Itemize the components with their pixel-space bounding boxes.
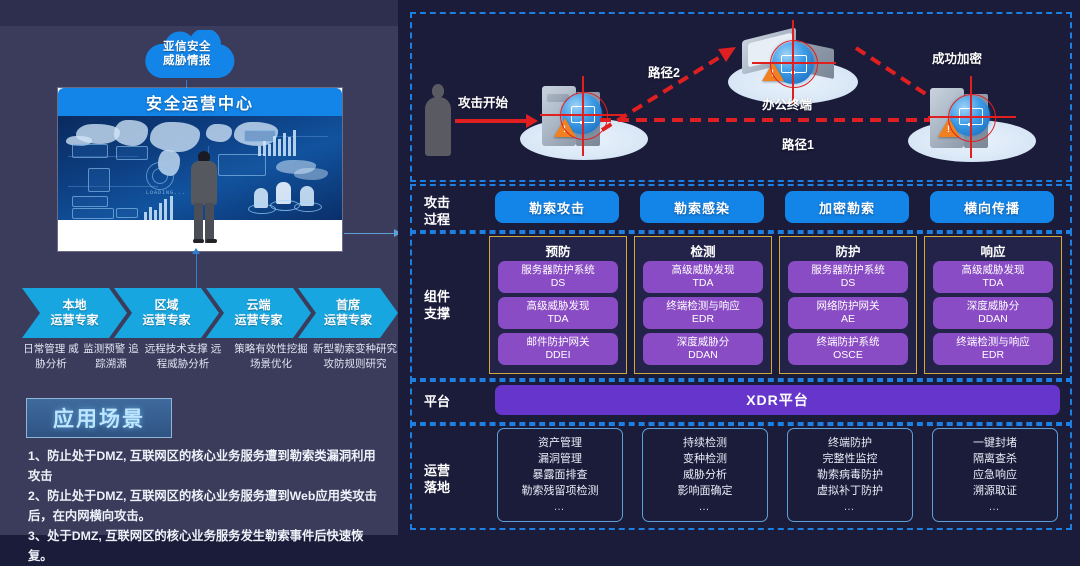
operations-column-2-line0: 终端防护 <box>828 435 872 451</box>
chevron-expert-0-line2: 运营专家 <box>50 313 98 328</box>
operations-column-3-line2: 应急响应 <box>973 467 1017 483</box>
chevron-expert-2-line1: 云端 <box>246 298 270 313</box>
chevron-expert-3-line2: 运营专家 <box>324 313 372 328</box>
diagram-root: 亚信安全 威胁情报 安全运营中心 <box>0 0 1080 535</box>
operations-row-label-line2: 落地 <box>424 480 450 495</box>
expert-note-1: 监测预警 追踪溯源 <box>82 342 140 372</box>
component-column-response: 响应 高级威胁发现 TDA 深度威胁分 DDAN 终端检测与响应 EDR <box>924 236 1062 374</box>
component-item-response-2-name: 终端检测与响应 <box>956 336 1030 349</box>
component-item-detection-1[interactable]: 终端检测与响应 EDR <box>643 297 763 329</box>
component-item-protection-0[interactable]: 服务器防护系统 DS <box>788 261 908 293</box>
component-support-row-label-line1: 组件 <box>424 289 450 304</box>
component-support-row-label: 组件 支撑 <box>424 288 450 322</box>
component-item-prevention-2[interactable]: 邮件防护网关 DDEI <box>498 333 618 365</box>
cloud-label: 亚信安全 威胁情报 <box>134 40 240 68</box>
attack-process-row-label: 攻击 过程 <box>424 194 450 228</box>
platform-row-label: 平台 <box>424 393 450 410</box>
operations-column-3-more: … <box>989 499 1002 515</box>
component-item-protection-0-name: 服务器防护系统 <box>811 264 885 277</box>
application-scenario-item-0: 1、防止处于DMZ, 互联网区的核心业务服务遭到勒索类漏洞利用攻击 <box>28 446 388 486</box>
component-item-detection-1-abbr: EDR <box>692 313 714 326</box>
chevron-expert-2[interactable]: 云端 运营专家 <box>206 288 311 338</box>
cloud-label-line2: 威胁情报 <box>163 55 211 67</box>
component-item-response-2[interactable]: 终端检测与响应 EDR <box>933 333 1053 365</box>
expert-note-0-line1: 日常管理 <box>23 343 65 355</box>
attack-step-1[interactable]: 勒索感染 <box>640 191 764 223</box>
component-item-prevention-0[interactable]: 服务器防护系统 DS <box>498 261 618 293</box>
operations-column-0-line0: 资产管理 <box>538 435 582 451</box>
application-scenario-item-1: 2、防止处于DMZ, 互联网区的核心业务服务遭到Web应用类攻击后，在内网横向攻… <box>28 486 388 526</box>
chevron-expert-3-line1: 首席 <box>336 298 360 313</box>
operations-row-label: 运营 落地 <box>424 462 450 496</box>
expert-chevron-row: 本地 运营专家 区域 运营专家 云端 运营专家 首席 运营专家 <box>22 288 394 338</box>
attack-step-0[interactable]: 勒索攻击 <box>495 191 619 223</box>
component-column-protection: 防护 服务器防护系统 DS 网络防护网关 AE 终端防护系统 OSCE <box>779 236 917 374</box>
operations-column-3-line3: 溯源取证 <box>973 483 1017 499</box>
chevron-expert-1[interactable]: 区域 运营专家 <box>114 288 219 338</box>
chevron-expert-1-line1: 区域 <box>154 298 178 313</box>
attack-step-3[interactable]: 横向传播 <box>930 191 1054 223</box>
operations-column-1-line1: 变种检测 <box>683 451 727 467</box>
component-item-detection-0[interactable]: 高级威胁发现 TDA <box>643 261 763 293</box>
operations-column-1-line0: 持续检测 <box>683 435 727 451</box>
component-item-prevention-0-name: 服务器防护系统 <box>521 264 595 277</box>
component-item-protection-2-abbr: OSCE <box>833 349 863 362</box>
operations-column-0[interactable]: 资产管理 漏洞管理 暴露面排查 勒索残留项检测 … <box>497 428 623 522</box>
component-column-response-title: 响应 <box>925 241 1061 260</box>
chevron-expert-3[interactable]: 首席 运营专家 <box>298 288 398 338</box>
component-column-prevention-title: 预防 <box>490 241 626 260</box>
operations-column-2-more: … <box>844 499 857 515</box>
component-item-protection-1-abbr: AE <box>841 313 855 326</box>
attack-step-2[interactable]: 加密勒索 <box>785 191 909 223</box>
expert-note-4-line2: 攻防规则研究 <box>324 358 387 370</box>
soc-title: 安全运营中心 <box>58 88 342 116</box>
security-operations-center-card: 安全运营中心 <box>58 88 342 251</box>
threat-intel-cloud: 亚信安全 威胁情报 <box>134 30 240 82</box>
cloud-label-line1: 亚信安全 <box>163 41 211 53</box>
component-item-detection-0-name: 高级威胁发现 <box>672 264 735 277</box>
component-item-detection-2-name: 深度威胁分 <box>677 336 730 349</box>
component-item-detection-0-abbr: TDA <box>693 277 714 290</box>
expert-note-2-line1: 远程技术支撑 <box>145 343 208 355</box>
expert-note-3-line2: 场景优化 <box>250 358 292 370</box>
node-encrypted-target: ! <box>908 74 1036 162</box>
component-column-prevention: 预防 服务器防护系统 DS 高级威胁发现 TDA 邮件防护网关 DDEI <box>489 236 627 374</box>
expert-note-0: 日常管理 威胁分析 <box>22 342 80 372</box>
component-item-protection-1-name: 网络防护网关 <box>817 300 880 313</box>
application-scenario-title: 应用场景 <box>26 398 172 438</box>
chevron-expert-1-line2: 运营专家 <box>142 313 190 328</box>
component-item-prevention-2-name: 邮件防护网关 <box>527 336 590 349</box>
chevron-expert-0-line1: 本地 <box>62 298 86 313</box>
component-item-response-1-abbr: DDAN <box>978 313 1008 326</box>
soc-inbound-line <box>196 252 197 288</box>
attack-process-row-label-line2: 过程 <box>424 212 450 227</box>
operations-column-2[interactable]: 终端防护 完整性监控 勒索病毒防护 虚拟补丁防护 … <box>787 428 913 522</box>
expert-note-2: 远程技术支撑 远程威胁分析 <box>142 342 224 372</box>
component-item-response-2-abbr: EDR <box>982 349 1004 362</box>
operator-silhouette <box>190 151 218 243</box>
component-item-prevention-1[interactable]: 高级威胁发现 TDA <box>498 297 618 329</box>
path1-label: 路径1 <box>782 134 814 153</box>
component-item-protection-2[interactable]: 终端防护系统 OSCE <box>788 333 908 365</box>
left-panel-top-strip <box>0 0 398 26</box>
success-encrypt-label: 成功加密 <box>932 48 982 67</box>
expert-note-4-line1: 新型勒索变种研究 <box>313 343 397 355</box>
component-item-detection-1-name: 终端检测与响应 <box>666 300 740 313</box>
operations-column-2-line2: 勒索病毒防护 <box>817 467 883 483</box>
component-column-detection-title: 检测 <box>635 241 771 260</box>
operations-row-label-line1: 运营 <box>424 463 450 478</box>
expert-notes-row: 日常管理 威胁分析 监测预警 追踪溯源 远程技术支撑 远程威胁分析 策略有效性挖… <box>22 342 394 382</box>
operations-column-1-more: … <box>699 499 712 515</box>
component-column-protection-title: 防护 <box>780 241 916 260</box>
left-to-right-connector-line <box>344 233 396 234</box>
component-item-protection-0-abbr: DS <box>841 277 856 290</box>
component-item-prevention-1-abbr: TDA <box>548 313 569 326</box>
xdr-platform-bar[interactable]: XDR平台 <box>495 385 1060 415</box>
left-panel: 亚信安全 威胁情报 安全运营中心 <box>0 0 398 535</box>
screen-loading-text: LOADING... <box>146 190 186 196</box>
component-support-row-label-line2: 支撑 <box>424 306 450 321</box>
component-item-response-0-abbr: TDA <box>983 277 1004 290</box>
operations-column-3-line1: 隔离查杀 <box>973 451 1017 467</box>
application-scenario-body: 1、防止处于DMZ, 互联网区的核心业务服务遭到勒索类漏洞利用攻击 2、防止处于… <box>28 446 388 566</box>
operations-column-2-line1: 完整性监控 <box>823 451 878 467</box>
component-item-detection-2-abbr: DDAN <box>688 349 718 362</box>
component-item-response-0-name: 高级威胁发现 <box>962 264 1025 277</box>
operations-column-0-more: … <box>554 499 567 515</box>
expert-note-1-line1: 监测预警 <box>83 343 125 355</box>
attack-process-row-label-line1: 攻击 <box>424 195 450 210</box>
operations-column-0-line2: 暴露面排查 <box>533 467 588 483</box>
component-item-prevention-0-abbr: DS <box>551 277 566 290</box>
component-item-detection-2[interactable]: 深度威胁分 DDAN <box>643 333 763 365</box>
operations-column-1[interactable]: 持续检测 变种检测 威胁分析 影响面确定 … <box>642 428 768 522</box>
operations-column-0-line3: 勒索残留项检测 <box>522 483 599 499</box>
component-item-prevention-2-abbr: DDEI <box>545 349 570 362</box>
operations-column-3[interactable]: 一键封堵 隔离查杀 应急响应 溯源取证 … <box>932 428 1058 522</box>
operations-column-3-line0: 一键封堵 <box>973 435 1017 451</box>
component-item-protection-1[interactable]: 网络防护网关 AE <box>788 297 908 329</box>
component-item-prevention-1-name: 高级威胁发现 <box>527 300 590 313</box>
component-item-response-1-name: 深度威胁分 <box>967 300 1020 313</box>
operations-column-1-line3: 影响面确定 <box>678 483 733 499</box>
operations-column-2-line3: 虚拟补丁防护 <box>817 483 883 499</box>
attack-start-label: 攻击开始 <box>458 92 508 111</box>
attack-start-arrow-line <box>455 119 528 123</box>
component-item-protection-2-name: 终端防护系统 <box>817 336 880 349</box>
application-scenario-item-2: 3、处于DMZ, 互联网区的核心业务服务发生勒索事件后快速恢复。 <box>28 526 388 566</box>
component-item-response-1[interactable]: 深度威胁分 DDAN <box>933 297 1053 329</box>
operations-column-1-line2: 威胁分析 <box>683 467 727 483</box>
chevron-expert-2-line2: 运营专家 <box>234 313 282 328</box>
expert-note-3: 策略有效性挖掘 场景优化 <box>228 342 314 372</box>
operations-column-0-line1: 漏洞管理 <box>538 451 582 467</box>
expert-note-4: 新型勒索变种研究 攻防规则研究 <box>310 342 400 372</box>
component-column-detection: 检测 高级威胁发现 TDA 终端检测与响应 EDR 深度威胁分 DDAN <box>634 236 772 374</box>
left-panel-inner: 亚信安全 威胁情报 安全运营中心 <box>8 26 390 527</box>
chevron-expert-0[interactable]: 本地 运营专家 <box>22 288 127 338</box>
expert-note-3-line1: 策略有效性挖掘 <box>234 343 308 355</box>
component-item-response-0[interactable]: 高级威胁发现 TDA <box>933 261 1053 293</box>
attacker-silhouette-icon <box>425 84 451 156</box>
